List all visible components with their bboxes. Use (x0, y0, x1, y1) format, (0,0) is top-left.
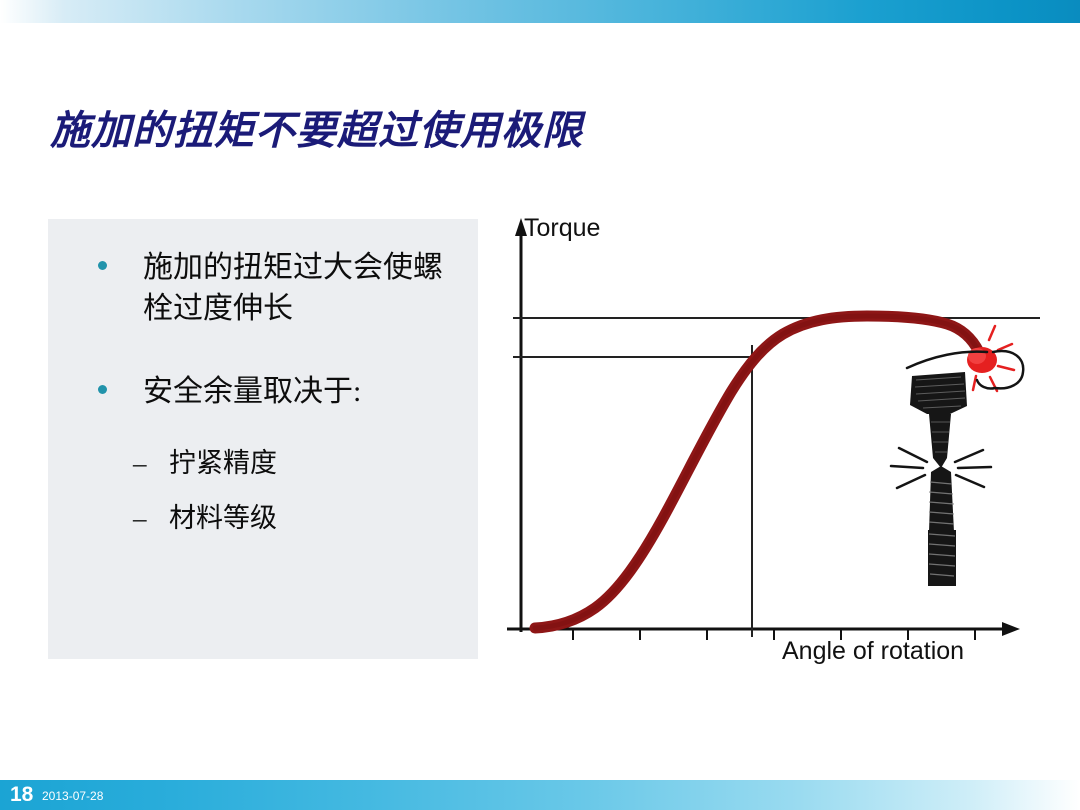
header-gradient-bar (0, 0, 1080, 23)
footer-gradient-bar: 18 2013-07-28 (0, 780, 1080, 810)
dash-marker-icon: – (133, 448, 155, 479)
bullet-dot-icon (98, 261, 107, 270)
content-panel: 施加的扭矩过大会使螺栓过度伸长 安全余量取决于: – 拧紧精度 – 材料等级 (48, 219, 478, 659)
sub-bullet-label: 材料等级 (169, 496, 277, 535)
torque-curve (535, 316, 979, 628)
page-number: 18 (10, 783, 33, 807)
broken-bolt-illustration (891, 372, 991, 586)
sub-bullet-label: 拧紧精度 (169, 441, 277, 480)
x-axis (507, 622, 1020, 636)
page-title: 施加的扭矩不要超过使用极限 (50, 98, 583, 156)
y-axis-label: Torque (524, 214, 600, 243)
torque-angle-chart: Torque Angle of rotation (495, 200, 1055, 680)
bullet-dot-icon (98, 385, 107, 394)
x-axis-label: Angle of rotation (782, 637, 964, 666)
sub-list-item: – 拧紧精度 (133, 441, 277, 480)
chart-canvas (495, 200, 1055, 680)
dash-marker-icon: – (133, 503, 155, 534)
sub-list-item: – 材料等级 (133, 496, 277, 535)
bullet-label: 施加的扭矩过大会使螺栓过度伸长 (143, 247, 468, 330)
bullet-label: 安全余量取决于: (143, 371, 361, 412)
slide-date: 2013-07-28 (42, 789, 103, 803)
list-item: 施加的扭矩过大会使螺栓过度伸长 (98, 247, 468, 330)
y-axis (515, 218, 527, 632)
list-item: 安全余量取决于: (98, 371, 468, 412)
